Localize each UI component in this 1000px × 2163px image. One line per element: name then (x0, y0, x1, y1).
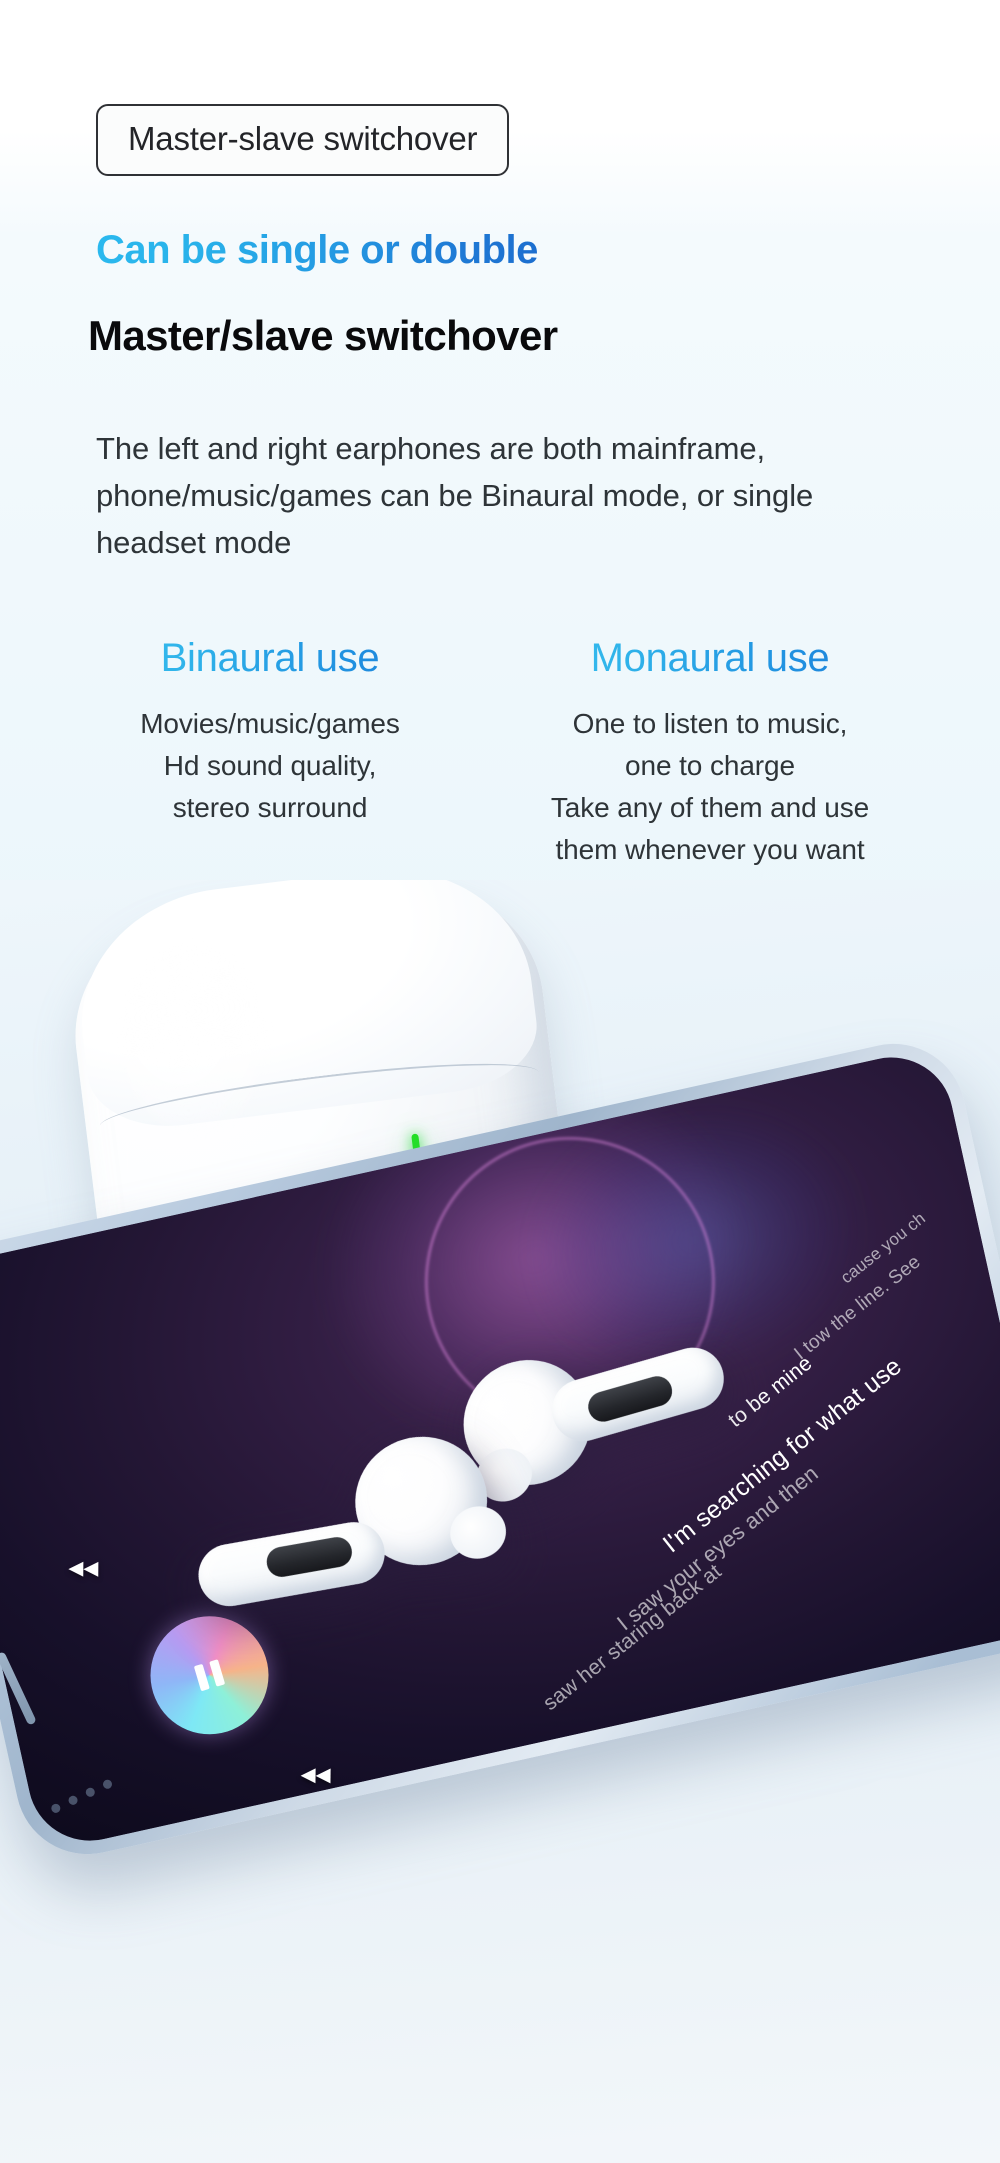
description-paragraph: The left and right earphones are both ma… (96, 425, 886, 566)
product-marketing-page: Master-slave switchover Can be single or… (0, 0, 1000, 2163)
feature-column-monaural: Monaural use One to listen to music, one… (490, 635, 930, 871)
page-title: Master/slave switchover (88, 312, 557, 360)
section-badge: Master-slave switchover (96, 104, 509, 176)
eyebrow-heading: Can be single or double (96, 228, 538, 273)
product-photo-scene: ◂◂ ◂◂ saw her staring back at I saw your… (0, 880, 1000, 2163)
feature-column-binaural: Binaural use Movies/music/games Hd sound… (60, 635, 480, 871)
monaural-body: One to listen to music, one to charge Ta… (490, 703, 930, 871)
feature-columns: Binaural use Movies/music/games Hd sound… (60, 635, 950, 871)
binaural-body: Movies/music/games Hd sound quality, ste… (60, 703, 480, 829)
binaural-title: Binaural use (60, 635, 480, 681)
lyric-line: saw her staring back at (539, 1560, 727, 1716)
monaural-title: Monaural use (490, 635, 930, 681)
